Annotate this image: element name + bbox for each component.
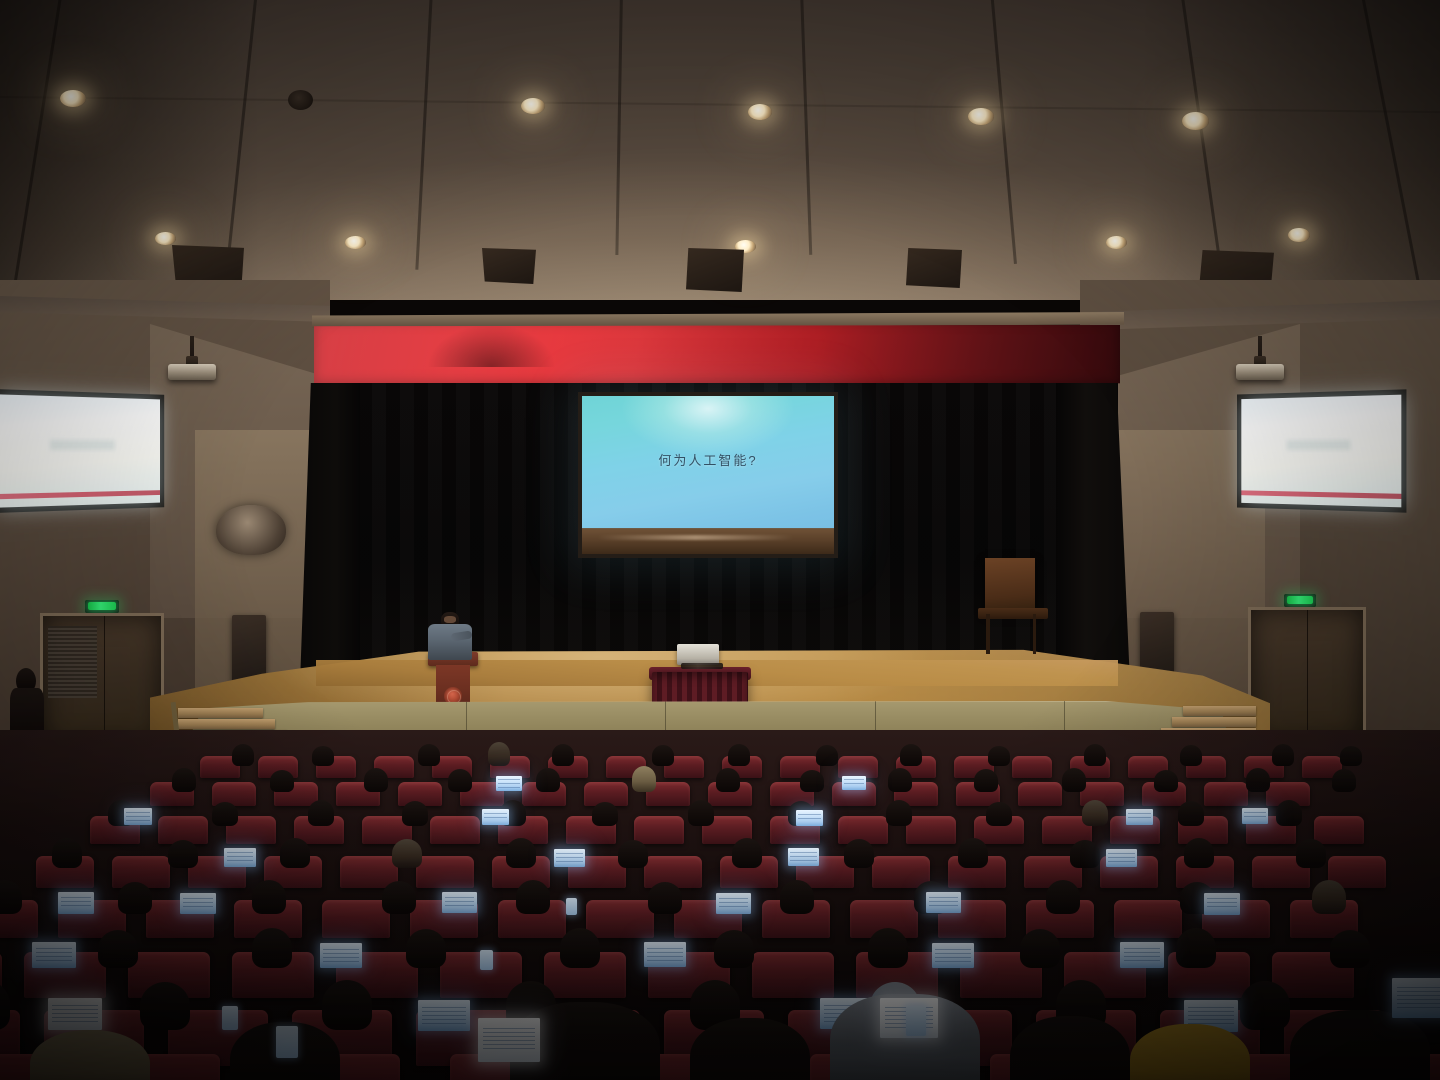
attendee bbox=[406, 929, 446, 968]
left-side-projection-screen bbox=[0, 389, 164, 513]
attendee bbox=[868, 928, 908, 968]
laptop-screen bbox=[48, 998, 102, 1030]
laptop-screen bbox=[554, 849, 585, 867]
phone-screen bbox=[566, 898, 577, 915]
attendee bbox=[632, 766, 656, 792]
attendee bbox=[382, 881, 416, 914]
attendee bbox=[886, 800, 912, 826]
attendee bbox=[418, 744, 440, 766]
attendee bbox=[1154, 770, 1178, 792]
attendee bbox=[780, 880, 814, 914]
attendee bbox=[714, 930, 754, 968]
attendee bbox=[172, 768, 196, 792]
upright-piano bbox=[978, 558, 1048, 654]
laptop-screen bbox=[180, 893, 216, 914]
laptop-screen bbox=[418, 1000, 470, 1031]
seat-row bbox=[0, 800, 1440, 838]
attendee bbox=[270, 770, 294, 792]
laptop-screen bbox=[1106, 849, 1137, 867]
attendee bbox=[988, 746, 1010, 766]
attendee bbox=[1340, 746, 1362, 766]
attendee bbox=[308, 800, 334, 826]
attendee bbox=[1084, 744, 1106, 766]
ceiling-downlight bbox=[521, 98, 545, 114]
laptop-screen bbox=[1126, 809, 1153, 825]
seat-row bbox=[0, 838, 1440, 882]
laptop-screen bbox=[796, 810, 823, 826]
laptop-screen bbox=[842, 776, 866, 790]
attendee bbox=[322, 980, 372, 1030]
ceiling-downlight bbox=[345, 236, 366, 249]
attendee bbox=[1082, 800, 1108, 826]
stage-red-banner bbox=[314, 325, 1120, 387]
ceiling-downlight bbox=[748, 104, 772, 120]
laptop-screen bbox=[926, 892, 961, 913]
attendee bbox=[1184, 838, 1214, 868]
attendee bbox=[52, 838, 82, 868]
laptop-screen-foreground bbox=[478, 1018, 540, 1062]
left-projector bbox=[168, 336, 216, 384]
audience-seating bbox=[0, 730, 1440, 1080]
attendee-foreground bbox=[1290, 1010, 1430, 1080]
laptop-screen bbox=[124, 808, 152, 825]
laptop-screen bbox=[482, 809, 509, 825]
table-equipment-box bbox=[677, 644, 719, 665]
ceiling-downlight bbox=[968, 108, 994, 125]
attendee bbox=[1062, 768, 1086, 792]
attendee bbox=[0, 880, 22, 914]
attendee bbox=[618, 840, 648, 868]
attendee bbox=[552, 744, 574, 766]
laptop-screen-foreground bbox=[1392, 978, 1440, 1018]
laptop-screen bbox=[716, 893, 751, 914]
attendee bbox=[958, 838, 988, 868]
attendee bbox=[448, 769, 472, 792]
ceiling-downlight bbox=[1106, 236, 1127, 249]
phone-screen bbox=[480, 950, 493, 970]
phone-screen-foreground bbox=[906, 1006, 926, 1036]
attendee bbox=[516, 880, 550, 914]
attendee bbox=[312, 746, 334, 766]
attendee bbox=[252, 880, 286, 914]
attendee bbox=[986, 802, 1012, 826]
laptop-screen bbox=[58, 892, 94, 914]
ceiling-downlight bbox=[155, 232, 176, 245]
laptop-screen bbox=[320, 943, 362, 968]
ceiling-spotlight-fixture bbox=[288, 90, 313, 110]
attendee bbox=[716, 768, 740, 792]
laptop-screen bbox=[1242, 808, 1268, 824]
laptop-screen bbox=[32, 942, 76, 968]
ceiling-speaker bbox=[686, 248, 744, 292]
attendee bbox=[1070, 840, 1100, 868]
attendee bbox=[1046, 880, 1080, 914]
ceiling-speaker bbox=[906, 248, 962, 288]
seat-row bbox=[0, 880, 1440, 932]
phone-screen-foreground bbox=[276, 1026, 298, 1058]
attendee bbox=[888, 768, 912, 792]
attendee bbox=[392, 839, 422, 868]
attendee bbox=[1312, 880, 1346, 914]
attendee bbox=[364, 768, 388, 792]
attendee bbox=[506, 838, 536, 868]
laptop-screen bbox=[442, 892, 477, 913]
attendee bbox=[1276, 800, 1302, 826]
attendee bbox=[648, 882, 682, 914]
attendee bbox=[1332, 769, 1356, 792]
attendee bbox=[816, 745, 838, 766]
attendee bbox=[402, 801, 428, 826]
attendee bbox=[118, 882, 152, 914]
attendee-foreground bbox=[1130, 1024, 1250, 1080]
ceiling-downlight bbox=[1288, 228, 1310, 242]
main-projection-screen: 何为人工智能? bbox=[578, 392, 838, 558]
attendee bbox=[488, 742, 510, 766]
attendee bbox=[560, 928, 600, 968]
attendee bbox=[652, 745, 674, 766]
attendee bbox=[140, 982, 190, 1030]
attendee bbox=[98, 930, 138, 968]
attendee bbox=[212, 802, 238, 826]
laptop-screen bbox=[1120, 942, 1164, 968]
phone-screen bbox=[222, 1006, 238, 1030]
attendee bbox=[1330, 930, 1370, 968]
attendee bbox=[732, 838, 762, 868]
attendee bbox=[688, 800, 714, 826]
laptop-screen bbox=[788, 848, 819, 866]
attendee-foreground bbox=[690, 1018, 810, 1080]
ceiling-speaker bbox=[482, 248, 536, 284]
attendee bbox=[1178, 801, 1204, 826]
right-side-projection-screen bbox=[1237, 389, 1406, 512]
attendee-foreground bbox=[1010, 1016, 1130, 1080]
table-items bbox=[681, 663, 723, 668]
presenter-speaker bbox=[424, 612, 476, 660]
exit-door-left[interactable] bbox=[40, 613, 164, 744]
right-projector bbox=[1236, 336, 1284, 384]
laptop-screen bbox=[496, 776, 522, 791]
attendee bbox=[1176, 928, 1216, 968]
laptop-screen bbox=[1204, 893, 1240, 915]
attendee bbox=[900, 744, 922, 766]
exit-sign-right bbox=[1284, 594, 1316, 607]
attendee bbox=[1272, 744, 1294, 766]
ceiling-downlight bbox=[1182, 112, 1209, 130]
attendee bbox=[728, 744, 750, 766]
attendee bbox=[974, 769, 998, 792]
attendee bbox=[1180, 745, 1202, 766]
attendee bbox=[280, 838, 310, 868]
attendee bbox=[1020, 929, 1060, 968]
attendee bbox=[536, 768, 560, 792]
exit-sign-left bbox=[85, 600, 119, 613]
attendee bbox=[232, 744, 254, 766]
ceiling-downlight bbox=[60, 90, 86, 107]
attendee bbox=[592, 802, 618, 826]
wall-light-fixture bbox=[216, 505, 286, 555]
auditorium-photo: 何为人工智能? bbox=[0, 0, 1440, 1080]
laptop-screen bbox=[932, 943, 974, 968]
attendee bbox=[800, 770, 824, 792]
attendee bbox=[1240, 981, 1290, 1030]
attendee bbox=[844, 839, 874, 868]
attendee bbox=[252, 928, 292, 968]
attendee bbox=[1296, 839, 1326, 868]
attendee bbox=[168, 840, 198, 868]
slide-title: 何为人工智能? bbox=[582, 450, 834, 469]
laptop-screen bbox=[644, 942, 686, 967]
attendee bbox=[1246, 768, 1270, 792]
seat-row bbox=[0, 768, 1440, 802]
laptop-screen bbox=[224, 848, 256, 867]
